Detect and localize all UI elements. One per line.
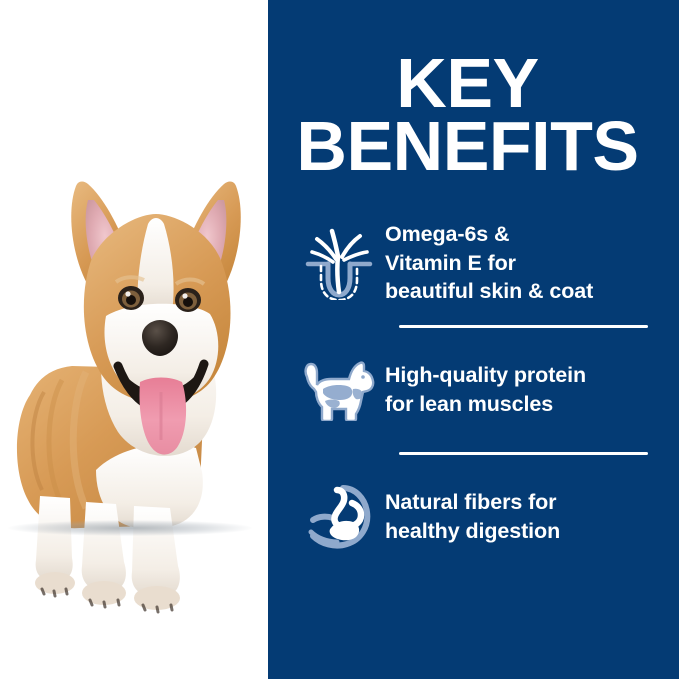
dog-muscle-icon xyxy=(298,349,380,431)
stomach-digestion-icon xyxy=(298,476,380,558)
benefit-separator-1 xyxy=(399,325,648,328)
benefit-item-skin-coat: Omega-6s & Vitamin E for beautiful skin … xyxy=(268,205,679,321)
benefit-separator-2 xyxy=(399,452,648,455)
product-photo-panel xyxy=(0,0,268,679)
benefit-list: Omega-6s & Vitamin E for beautiful skin … xyxy=(268,205,679,575)
benefit-item-digestion: Natural fibers for healthy digestion xyxy=(268,459,679,575)
key-benefits-panel-page: KEY BENEFITS xyxy=(0,0,679,679)
benefit-text-protein: High-quality protein for lean muscles xyxy=(380,361,586,418)
benefit-item-protein: High-quality protein for lean muscles xyxy=(268,332,679,448)
benefit-text-skin-coat: Omega-6s & Vitamin E for beautiful skin … xyxy=(380,220,593,306)
corgi-illustration xyxy=(0,0,268,679)
corgi-leg-rear-left xyxy=(36,496,73,580)
benefit-text-digestion: Natural fibers for healthy digestion xyxy=(380,488,560,545)
page-title: KEY BENEFITS xyxy=(268,52,667,178)
floor-shadow xyxy=(8,520,252,536)
hair-follicle-icon xyxy=(298,222,380,304)
corgi-photo xyxy=(0,0,268,679)
benefits-panel: KEY BENEFITS xyxy=(268,0,679,679)
